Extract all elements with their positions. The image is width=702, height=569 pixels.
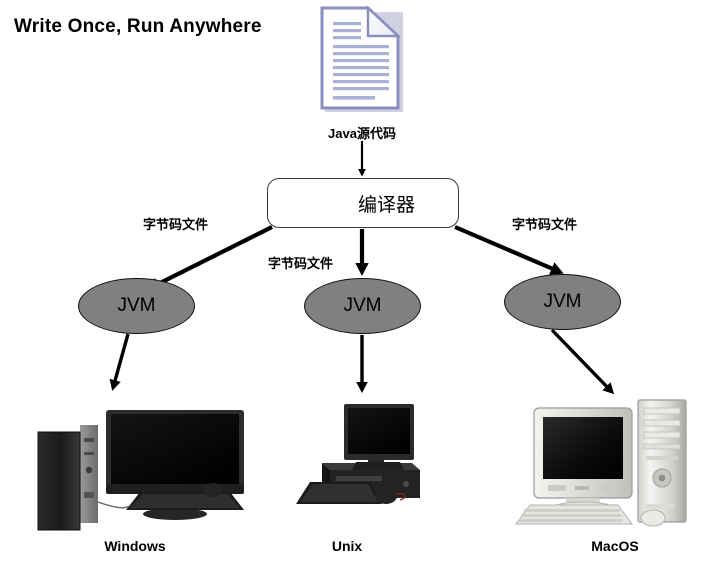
arrow-jvm-right-to-macos bbox=[552, 330, 612, 392]
desktop-computer-black-icon-unix bbox=[296, 404, 420, 504]
platform-label-macos: MacOS bbox=[530, 538, 700, 554]
jvm-node-right[interactable]: JVM bbox=[504, 274, 621, 330]
platform-label-unix: Unix bbox=[282, 538, 412, 554]
diagram-canvas: Write Once, Run Anywhere bbox=[0, 0, 702, 569]
arrow-compiler-to-jvm-left bbox=[150, 227, 272, 288]
edge-label-bytecode-left: 字节码文件 bbox=[143, 214, 208, 233]
edge-label-bytecode-mid: 字节码文件 bbox=[268, 253, 333, 272]
arrow-jvm-left-to-windows bbox=[113, 334, 128, 388]
edge-label-bytecode-right: 字节码文件 bbox=[512, 214, 577, 233]
source-label: Java源代码 bbox=[292, 123, 432, 142]
arrow-compiler-to-jvm-right bbox=[455, 227, 560, 272]
page-title: Write Once, Run Anywhere bbox=[14, 16, 262, 38]
jvm-node-mid[interactable]: JVM bbox=[304, 278, 421, 334]
document-icon bbox=[322, 8, 403, 112]
jvm-node-left[interactable]: JVM bbox=[78, 278, 195, 334]
platform-label-windows: Windows bbox=[50, 538, 220, 554]
desktop-computer-beige-icon-macos bbox=[516, 400, 686, 526]
compiler-label: 编译器 bbox=[358, 190, 415, 217]
desktop-computer-black-icon-windows bbox=[38, 410, 244, 530]
compiler-node[interactable]: 编译器 bbox=[267, 178, 459, 228]
